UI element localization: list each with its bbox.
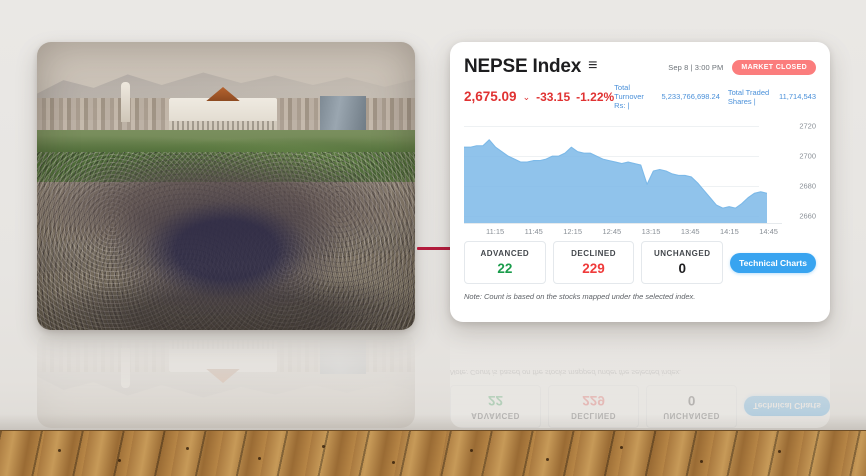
stat-advanced-label: ADVANCED — [467, 249, 543, 258]
chart-plot — [464, 119, 767, 223]
chart-x-axis: 11:1511:4512:1512:4513:1513:4514:1514:45 — [464, 223, 782, 237]
card-title-row: NEPSE Index ≡ — [464, 56, 597, 78]
card-header-right: Sep 8 | 3:00 PM MARKET CLOSED — [668, 60, 816, 75]
intraday-chart[interactable]: 2720270026802660 11:1511:4512:1512:4513:… — [464, 119, 816, 237]
connector-line — [417, 247, 453, 250]
chart-y-tick: 2680 — [782, 181, 816, 190]
index-change: -33.15 — [536, 90, 570, 104]
quote-values: 2,675.09 ⌄ -33.15 -1.22% — [464, 89, 614, 104]
card-header: NEPSE Index ≡ Sep 8 | 3:00 PM MARKET CLO… — [464, 56, 816, 78]
chart-x-tick: 12:15 — [563, 227, 582, 237]
technical-charts-button[interactable]: Technical Charts — [730, 253, 816, 273]
quote-row: 2,675.09 ⌄ -33.15 -1.22% Total Turnover … — [464, 83, 816, 110]
page-title: NEPSE Index — [464, 56, 581, 78]
caret-down-icon: ⌄ — [523, 92, 531, 103]
chart-x-tick: 13:45 — [681, 227, 700, 237]
stat-advanced[interactable]: ADVANCED 22 — [464, 241, 546, 284]
stat-declined[interactable]: DECLINED 229 — [553, 241, 635, 284]
chart-y-tick: 2720 — [782, 122, 816, 131]
chart-x-tick: 13:15 — [642, 227, 661, 237]
chart-x-tick: 11:15 — [486, 227, 504, 237]
scene-backdrop: NEPSE Index ≡ Sep 8 | 3:00 PM MARKET CLO… — [0, 0, 866, 476]
stat-declined-label: DECLINED — [556, 249, 632, 258]
index-percent: -1.22% — [576, 90, 614, 104]
turnover-summary: Total Turnover Rs: | 5,233,766,698.24 To… — [614, 83, 816, 110]
status-badge: MARKET CLOSED — [732, 60, 816, 75]
chart-x-tick: 14:15 — [720, 227, 739, 237]
chart-x-tick: 14:45 — [759, 227, 778, 237]
chart-y-tick: 2660 — [782, 211, 816, 220]
stat-unchanged[interactable]: UNCHANGED 0 — [641, 241, 723, 284]
turnover-label: Total Turnover Rs: | — [614, 83, 653, 110]
index-value: 2,675.09 — [464, 89, 517, 104]
photo-vignette — [37, 42, 415, 330]
chart-x-tick: 11:45 — [525, 227, 543, 237]
stat-declined-value: 229 — [556, 261, 632, 276]
stat-unchanged-label: UNCHANGED — [644, 249, 720, 258]
protest-photo-image — [37, 42, 415, 330]
hamburger-menu-icon[interactable]: ≡ — [588, 58, 597, 76]
timestamp: Sep 8 | 3:00 PM — [668, 63, 723, 72]
wooden-floor — [0, 430, 866, 476]
chart-y-tick: 2700 — [782, 152, 816, 161]
note-text: Note: Count is based on the stocks mappe… — [464, 292, 816, 301]
chart-x-tick: 12:45 — [602, 227, 621, 237]
turnover-value: 5,233,766,698.24 — [662, 92, 720, 101]
market-breadth-stats: ADVANCED 22 DECLINED 229 UNCHANGED 0 Tec… — [464, 241, 816, 284]
nepse-index-card: NEPSE Index ≡ Sep 8 | 3:00 PM MARKET CLO… — [450, 42, 830, 322]
traded-shares-value: 11,714,543 — [779, 92, 816, 101]
stat-advanced-value: 22 — [467, 261, 543, 276]
stat-unchanged-value: 0 — [644, 261, 720, 276]
traded-shares-label: Total Traded Shares | — [728, 88, 771, 106]
protest-photo — [37, 42, 415, 330]
